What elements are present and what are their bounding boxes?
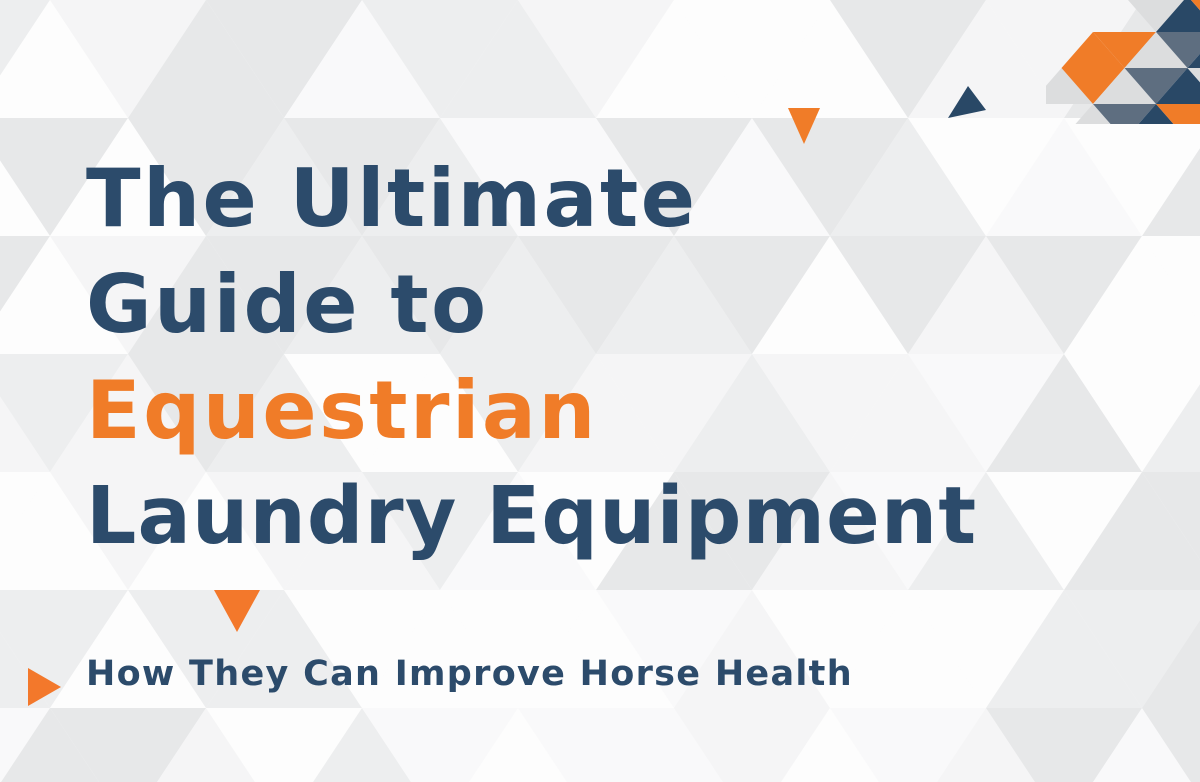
title-line-1: The Ultimate <box>86 160 698 238</box>
subtitle: How They Can Improve Horse Health <box>86 654 853 694</box>
title-line-4: Laundry Equipment <box>86 478 977 555</box>
title-line-3-highlight: Equestrian <box>86 372 598 450</box>
headline-block: The Ultimate Guide to Equestrian Laundry… <box>0 0 1200 782</box>
hero-banner: The Ultimate Guide to Equestrian Laundry… <box>0 0 1200 782</box>
title-line-2: Guide to <box>86 266 489 344</box>
